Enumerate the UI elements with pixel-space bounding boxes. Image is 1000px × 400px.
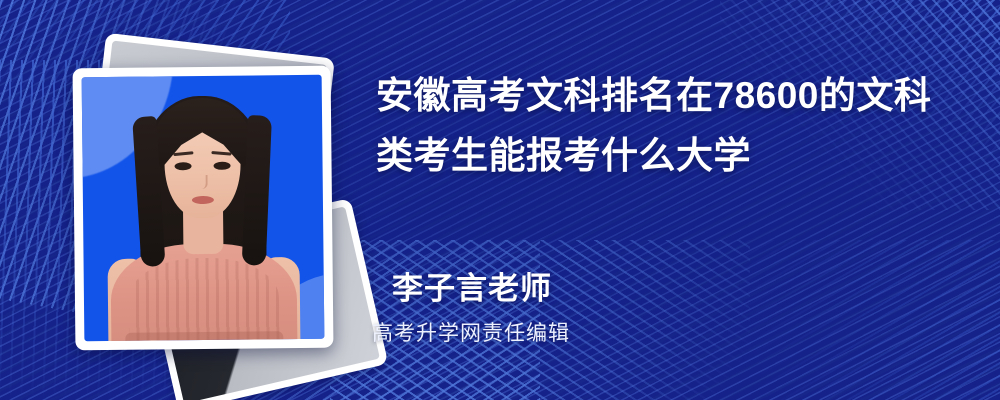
- author-portrait-photo: [82, 75, 325, 341]
- author-photo-stack: [52, 40, 362, 360]
- portrait-illustration: [82, 75, 325, 341]
- article-headline: 安徽高考文科排名在78600的文科 类考生能报考什么大学: [376, 66, 976, 186]
- article-cover-banner: 安徽高考文科排名在78600的文科 类考生能报考什么大学 李子言老师 高考升学网…: [0, 0, 1000, 400]
- headline-block: 安徽高考文科排名在78600的文科 类考生能报考什么大学: [376, 66, 976, 186]
- author-role: 高考升学网责任编辑: [372, 320, 570, 348]
- portrait-dress-waist: [125, 331, 283, 341]
- portrait-hair-side-right: [242, 115, 272, 266]
- author-name: 李子言老师: [392, 270, 552, 308]
- chevron-pattern-bottom-far-right: [700, 240, 1000, 400]
- photo-card-front: [73, 66, 334, 351]
- author-byline: 李子言老师: [392, 270, 552, 308]
- portrait-dress-texture: [129, 257, 280, 341]
